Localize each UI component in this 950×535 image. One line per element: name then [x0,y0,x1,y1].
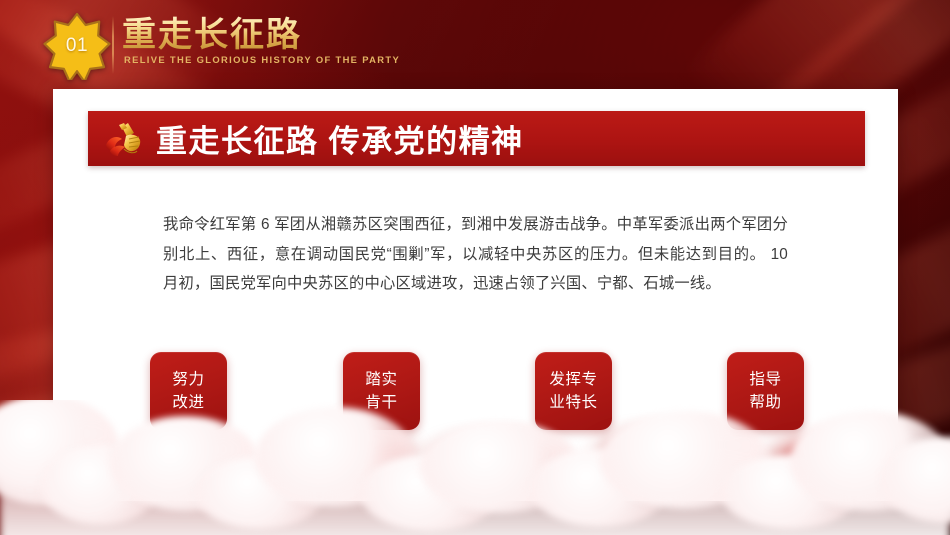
star-badge: 01 [43,12,111,80]
banner-title: 重走长征路 传承党的精神 [156,116,524,161]
torch-in-hand-icon [103,119,145,159]
tag-button-2[interactable]: 踏实 肯干 [343,352,420,430]
tag-button-3[interactable]: 发挥专 业特长 [535,352,612,430]
tag-button-3-line2: 业特长 [549,391,597,414]
header-divider [112,16,114,74]
section-banner: 重走长征路 传承党的精神 [88,111,865,166]
tag-button-4-line1: 指导 [749,368,781,391]
tag-button-2-line2: 肯干 [365,391,397,414]
badge-number: 01 [43,12,111,80]
tag-button-1[interactable]: 努力 改进 [150,352,227,430]
tag-button-2-line1: 踏实 [365,368,397,391]
page-title: 重走长征路 [122,16,302,54]
tag-button-4[interactable]: 指导 帮助 [727,352,804,430]
tag-button-3-line1: 发挥专 [549,368,597,391]
tag-button-4-line2: 帮助 [749,391,781,414]
tag-button-1-line2: 改进 [172,391,204,414]
page-subtitle: RELIVE THE GLORIOUS HISTORY OF THE PARTY [124,54,400,65]
body-paragraph: 我命令红军第 6 军团从湘赣苏区突围西征，到湘中发展游击战争。中革军委派出两个军… [163,210,788,299]
tag-button-1-line1: 努力 [172,368,204,391]
slide-header: 01 重走长征路 RELIVE THE GLORIOUS HISTORY OF … [0,0,950,92]
slide-canvas: 01 重走长征路 RELIVE THE GLORIOUS HISTORY OF … [0,0,950,535]
